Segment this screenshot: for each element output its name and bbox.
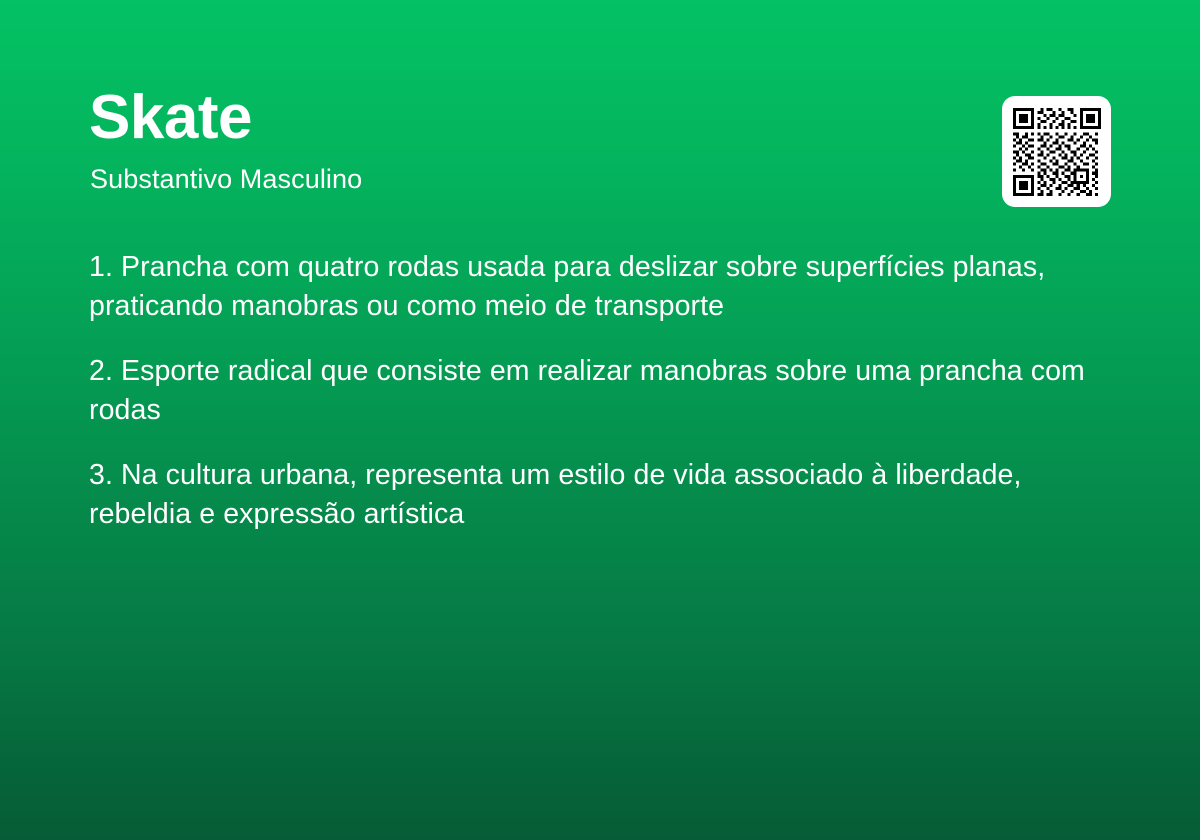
qr-code-panel[interactable] bbox=[1002, 96, 1111, 207]
page-title: Skate bbox=[89, 87, 252, 149]
definition-card: Skate Substantivo Masculino bbox=[0, 0, 1200, 840]
definition-list: 1. Prancha com quatro rodas usada para d… bbox=[89, 248, 1099, 534]
word-class-label: Substantivo Masculino bbox=[90, 166, 362, 193]
definition-item: 1. Prancha com quatro rodas usada para d… bbox=[89, 248, 1099, 326]
definition-item: 2. Esporte radical que consiste em reali… bbox=[89, 352, 1099, 430]
card-footer: e escreva.ai bbox=[0, 720, 1200, 840]
qr-code-icon bbox=[1013, 108, 1101, 196]
definition-item: 3. Na cultura urbana, representa um esti… bbox=[89, 456, 1099, 534]
